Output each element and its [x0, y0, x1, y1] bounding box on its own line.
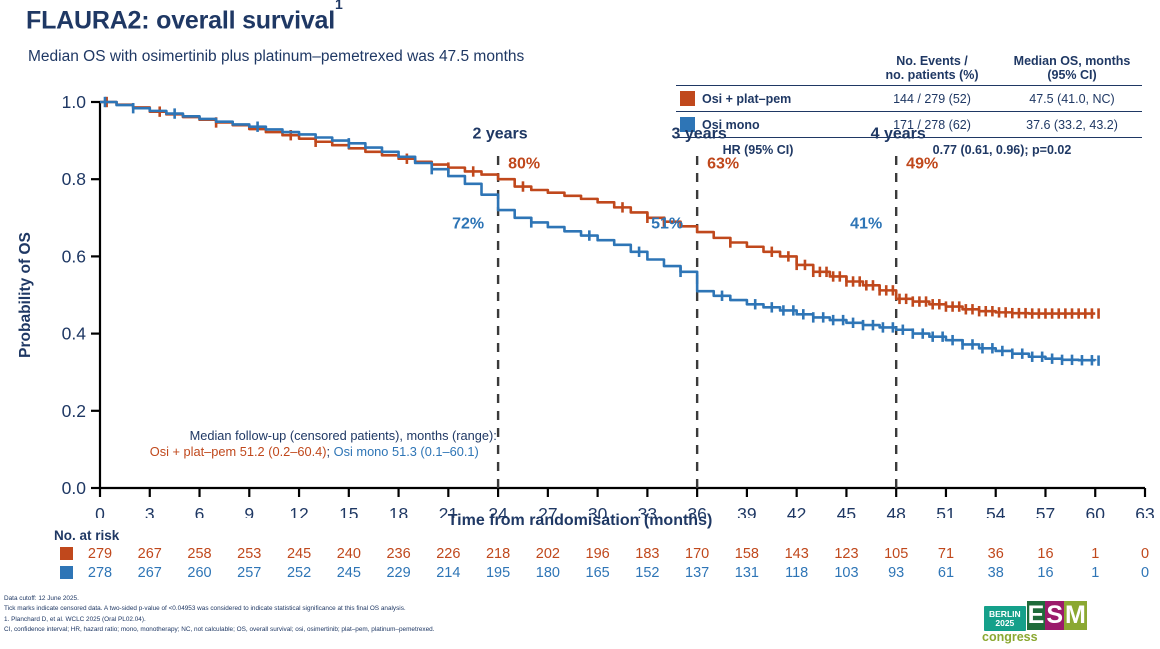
at-risk-value: 36	[988, 546, 1004, 562]
followup-note-line2: Osi + plat–pem 51.2 (0.2–60.4); Osi mono…	[150, 444, 479, 459]
series-osi-plat-pem	[100, 97, 1099, 319]
page-title: FLAURA2: overall survival1	[26, 6, 343, 35]
at-risk-value: 0	[1141, 546, 1149, 562]
page-title-text: FLAURA2: overall survival	[26, 6, 335, 34]
svg-text:0.8: 0.8	[62, 169, 86, 189]
esmo-letter-s: S	[1045, 601, 1064, 630]
landmark-blue-pct-24: 72%	[452, 216, 484, 233]
followup-note-line1: Median follow-up (censored patients), mo…	[190, 428, 497, 443]
landmark-blue-pct-48: 41%	[850, 216, 882, 233]
footnote-2: 1. Planchard D, et al. WCLC 2025 (Oral P…	[4, 615, 954, 625]
at-risk-value: 123	[834, 546, 858, 562]
svg-text:0.6: 0.6	[62, 246, 86, 266]
at-risk-title: No. at risk	[54, 528, 119, 543]
at-risk-value: 214	[436, 565, 460, 581]
page-subtitle: Median OS with osimertinib plus platinum…	[28, 48, 524, 66]
esmo-congress-logo: BERLIN 2025 ESMOcongress	[984, 601, 1160, 635]
at-risk-value: 143	[785, 546, 809, 562]
at-risk-value: 16	[1037, 546, 1053, 562]
at-risk-value: 195	[486, 565, 510, 581]
at-risk-value: 131	[735, 565, 759, 581]
at-risk-value: 93	[888, 565, 904, 581]
at-risk-value: 196	[586, 546, 610, 562]
at-risk-value: 0	[1141, 565, 1149, 581]
series-osi-mono	[100, 97, 1099, 366]
at-risk-swatch-0	[60, 547, 73, 560]
footnote-3: CI, confidence interval; HR, hazard rati…	[4, 625, 954, 635]
landmark-label-48: 4 years	[871, 126, 926, 143]
at-risk-value: 158	[735, 546, 759, 562]
svg-text:0.4: 0.4	[62, 324, 87, 344]
at-risk-value: 16	[1037, 565, 1053, 581]
y-axis-title: Probability of OS	[17, 232, 34, 358]
esmo-letter-m: M	[1064, 601, 1087, 630]
at-risk-value: 1	[1091, 546, 1099, 562]
at-risk-value: 170	[685, 546, 709, 562]
at-risk-value: 267	[138, 565, 162, 581]
svg-text:1.0: 1.0	[62, 92, 87, 112]
at-risk-value: 137	[685, 565, 709, 581]
at-risk-value: 103	[834, 565, 858, 581]
at-risk-value: 71	[938, 546, 954, 562]
at-risk-value: 61	[938, 565, 954, 581]
at-risk-value: 236	[386, 546, 410, 562]
title-footnote-marker: 1	[335, 0, 343, 12]
at-risk-value: 267	[138, 546, 162, 562]
footnote-0: Data cutoff: 12 June 2025.	[4, 594, 954, 604]
at-risk-value: 229	[386, 565, 410, 581]
landmark-orange-pct-48: 49%	[906, 155, 938, 172]
berlin-line2: 2025	[995, 618, 1014, 628]
at-risk-value: 253	[237, 546, 261, 562]
at-risk-value: 260	[187, 565, 211, 581]
at-risk-value: 279	[88, 546, 112, 562]
footnotes: Data cutoff: 12 June 2025. Tick marks in…	[4, 594, 954, 636]
at-risk-value: 38	[988, 565, 1004, 581]
footnote-1: Tick marks indicate censored data. A two…	[4, 604, 954, 614]
at-risk-table: 2792672582532452402362262182021961831701…	[0, 543, 1160, 591]
at-risk-value: 245	[287, 546, 311, 562]
at-risk-value: 1	[1091, 565, 1099, 581]
landmark-label-24: 2 years	[473, 126, 528, 143]
at-risk-value: 257	[237, 565, 261, 581]
at-risk-value: 118	[785, 565, 808, 581]
at-risk-value: 105	[884, 546, 908, 562]
at-risk-value: 252	[287, 565, 311, 581]
svg-text:0.2: 0.2	[62, 401, 86, 421]
at-risk-value: 258	[187, 546, 211, 562]
at-risk-value: 180	[536, 565, 560, 581]
landmark-blue-pct-36: 51%	[651, 216, 683, 233]
esmo-letter-e: E	[1027, 601, 1046, 630]
congress-wordmark: congress	[982, 630, 1038, 644]
km-survival-plot: 0.00.20.40.60.81.0Probability of OS03691…	[0, 78, 1160, 518]
x-axis-title: Time from randomisation (months)	[0, 512, 1160, 530]
at-risk-value: 240	[337, 546, 361, 562]
esmo-letter-o: O	[1087, 601, 1107, 630]
at-risk-value: 245	[337, 565, 361, 581]
at-risk-value: 218	[486, 546, 510, 562]
esmo-wordmark: ESMO	[1027, 601, 1108, 630]
landmark-label-36: 3 years	[672, 126, 727, 143]
at-risk-value: 152	[635, 565, 659, 581]
landmark-orange-pct-36: 63%	[707, 155, 739, 172]
at-risk-swatch-1	[60, 566, 73, 579]
at-risk-value: 165	[586, 565, 610, 581]
at-risk-value: 226	[436, 546, 460, 562]
landmark-orange-pct-24: 80%	[508, 155, 540, 172]
at-risk-value: 202	[536, 546, 560, 562]
svg-text:0.0: 0.0	[62, 478, 87, 498]
at-risk-value: 183	[635, 546, 659, 562]
at-risk-value: 278	[88, 565, 112, 581]
berlin-2025-badge: BERLIN 2025	[984, 606, 1026, 631]
